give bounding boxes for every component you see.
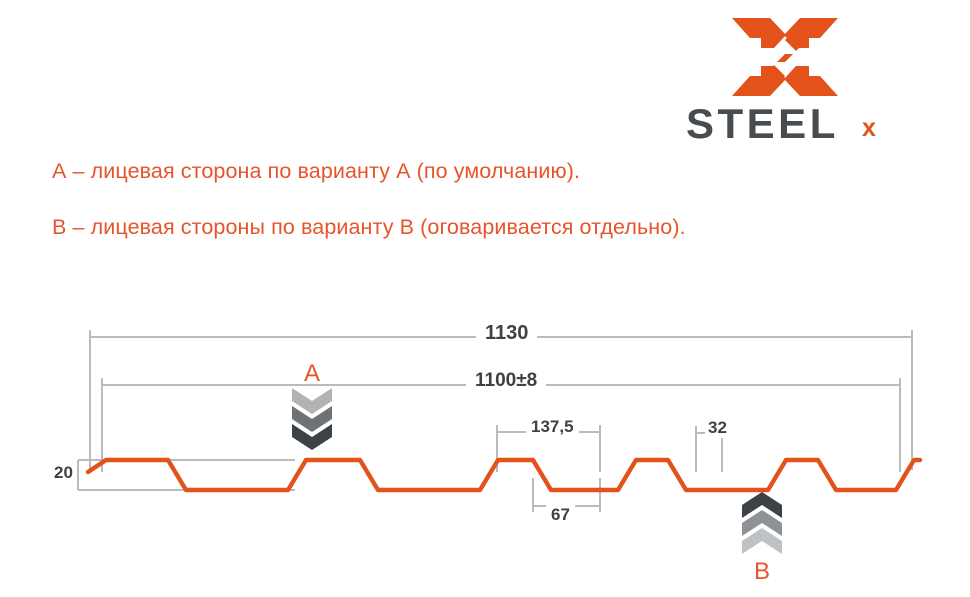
- side-a-marker: А: [283, 360, 341, 460]
- caption-variant-a: А – лицевая сторона по варианту А (по ум…: [52, 159, 580, 184]
- steelx-logo: STEEL x: [686, 16, 916, 146]
- dimension-label-wave-pitch: 137,5: [526, 417, 579, 437]
- dimension-label-overall-width: 1130: [476, 322, 537, 345]
- chevron-down-stack-icon: [292, 388, 332, 450]
- wordmark-steel-text: STEEL: [686, 102, 839, 144]
- steelx-wordmark: STEEL x: [686, 102, 916, 144]
- profile-technical-drawing: 1130 1100±8 137,5 32 67 20 А В: [0, 300, 970, 590]
- dimension-label-crest-width: 32: [705, 418, 730, 438]
- caption-variant-b: В – лицевая стороны по варианту В (огова…: [52, 215, 686, 240]
- steelx-x-mark-icon: [730, 16, 840, 98]
- side-b-marker: В: [733, 486, 791, 586]
- corrugated-profile-path: [88, 460, 920, 490]
- chevron-up-stack-icon: [742, 492, 782, 554]
- dimension-label-profile-height: 20: [51, 463, 76, 483]
- side-b-letter: В: [733, 558, 791, 586]
- wordmark-x-superscript: x: [862, 114, 876, 142]
- dimension-label-valley-width: 67: [546, 505, 575, 525]
- dimension-label-effective-width: 1100±8: [466, 370, 546, 392]
- side-a-letter: А: [283, 360, 341, 388]
